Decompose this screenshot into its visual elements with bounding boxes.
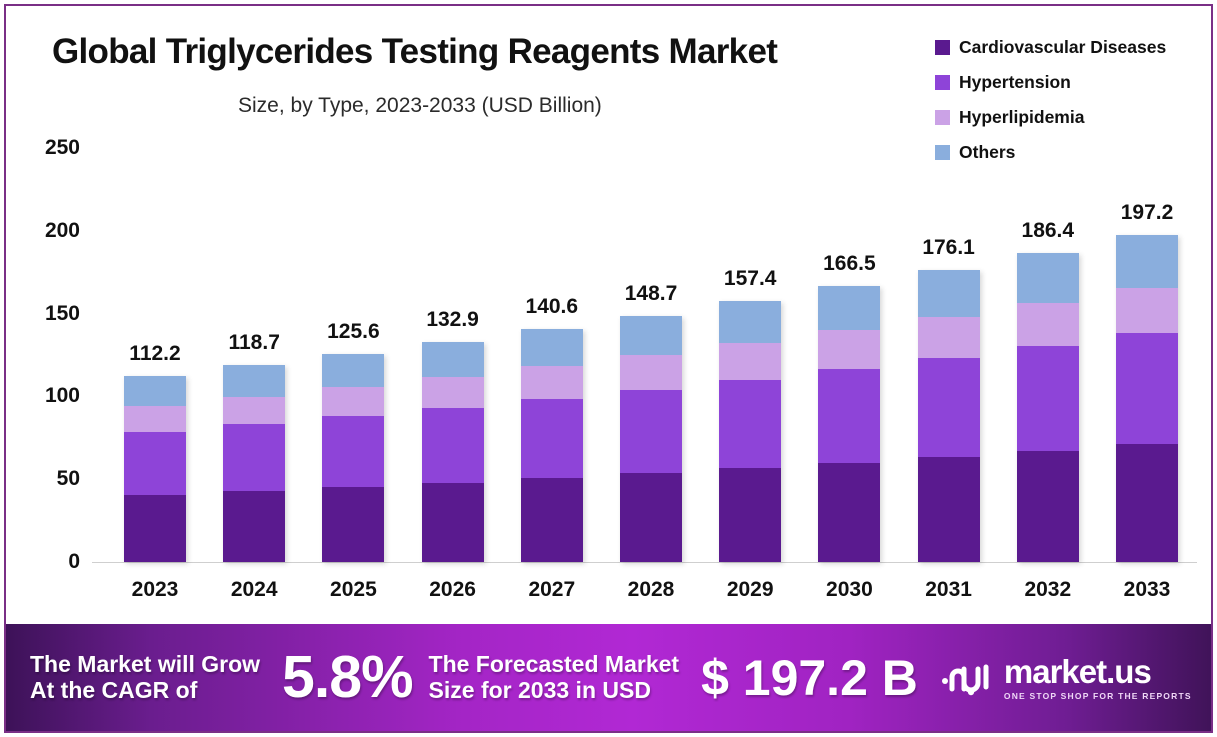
x-axis-tick-label: 2023 xyxy=(112,578,199,602)
bar-segment[interactable] xyxy=(620,355,682,389)
stacked-bar[interactable] xyxy=(322,354,384,562)
bar-segment[interactable] xyxy=(422,408,484,483)
plot-region: 050100150200250112.22023118.72024125.620… xyxy=(6,6,1211,618)
x-axis-tick-label: 2025 xyxy=(310,578,397,602)
bar-segment[interactable] xyxy=(322,416,384,487)
stacked-bar[interactable] xyxy=(124,376,186,562)
market-us-logo-icon xyxy=(940,657,998,699)
x-axis-tick-label: 2030 xyxy=(806,578,893,602)
chart-infographic: Global Triglycerides Testing Reagents Ma… xyxy=(0,0,1217,737)
forecast-caption: The Forecasted Market Size for 2033 in U… xyxy=(429,652,680,704)
bar-value-label: 148.7 xyxy=(608,282,695,306)
x-axis-tick-label: 2033 xyxy=(1104,578,1191,602)
y-axis-tick-label: 50 xyxy=(16,467,80,491)
bar-segment[interactable] xyxy=(918,270,980,317)
bar-segment[interactable] xyxy=(918,457,980,562)
stacked-bar[interactable] xyxy=(422,342,484,562)
bar-segment[interactable] xyxy=(818,286,880,330)
bar-value-label: 132.9 xyxy=(409,308,496,332)
bar-segment[interactable] xyxy=(1116,333,1178,444)
logo-tagline: ONE STOP SHOP FOR THE REPORTS xyxy=(1004,691,1192,701)
bar-segment[interactable] xyxy=(422,483,484,562)
bar-segment[interactable] xyxy=(422,377,484,408)
bar-segment[interactable] xyxy=(620,390,682,474)
y-axis-tick-label: 0 xyxy=(16,550,80,574)
bar-value-label: 140.6 xyxy=(508,295,595,319)
cagr-caption-line1: The Market will Grow xyxy=(30,651,260,677)
bar-segment[interactable] xyxy=(1017,346,1079,451)
logo-text-block: market.us ONE STOP SHOP FOR THE REPORTS xyxy=(1004,655,1192,701)
bar-segment[interactable] xyxy=(322,487,384,562)
bar-segment[interactable] xyxy=(521,329,583,366)
bar-segment[interactable] xyxy=(1017,303,1079,346)
bar-segment[interactable] xyxy=(322,354,384,387)
stacked-bar[interactable] xyxy=(223,365,285,562)
bar-value-label: 125.6 xyxy=(310,320,397,344)
bar-segment[interactable] xyxy=(918,358,980,457)
bar-segment[interactable] xyxy=(719,301,781,343)
bar-segment[interactable] xyxy=(719,468,781,562)
bar-value-label: 118.7 xyxy=(211,331,298,355)
bar-segment[interactable] xyxy=(620,473,682,562)
logo-wordmark: market.us xyxy=(1004,655,1192,688)
bar-segment[interactable] xyxy=(918,317,980,358)
bar-segment[interactable] xyxy=(1116,288,1178,334)
bar-segment[interactable] xyxy=(223,491,285,562)
y-axis-tick-label: 100 xyxy=(16,384,80,408)
bar-segment[interactable] xyxy=(818,330,880,369)
cagr-caption-line2: At the CAGR of xyxy=(30,677,197,703)
bar-segment[interactable] xyxy=(322,387,384,416)
bar-segment[interactable] xyxy=(818,463,880,562)
stacked-bar[interactable] xyxy=(719,301,781,562)
y-axis-tick-label: 250 xyxy=(16,136,80,160)
footer-banner: The Market will Grow At the CAGR of 5.8%… xyxy=(6,624,1211,731)
cagr-caption: The Market will Grow At the CAGR of xyxy=(30,652,260,704)
bar-segment[interactable] xyxy=(521,366,583,399)
y-axis-tick-label: 200 xyxy=(16,219,80,243)
x-axis-tick-label: 2024 xyxy=(211,578,298,602)
x-axis-tick-label: 2027 xyxy=(508,578,595,602)
stacked-bar[interactable] xyxy=(818,286,880,562)
bar-segment[interactable] xyxy=(124,376,186,406)
bar-segment[interactable] xyxy=(422,342,484,377)
bar-segment[interactable] xyxy=(719,343,781,379)
stacked-bar[interactable] xyxy=(1116,235,1178,562)
stacked-bar[interactable] xyxy=(918,270,980,562)
x-axis-tick-label: 2032 xyxy=(1004,578,1091,602)
bar-segment[interactable] xyxy=(521,399,583,478)
bar-segment[interactable] xyxy=(1017,451,1079,562)
stacked-bar[interactable] xyxy=(620,316,682,562)
bar-value-label: 112.2 xyxy=(112,342,199,366)
market-us-logo[interactable]: market.us ONE STOP SHOP FOR THE REPORTS xyxy=(940,655,1192,701)
bar-value-label: 157.4 xyxy=(707,267,794,291)
bar-segment[interactable] xyxy=(124,406,186,432)
bar-segment[interactable] xyxy=(818,369,880,463)
bar-value-label: 186.4 xyxy=(1004,219,1091,243)
bar-segment[interactable] xyxy=(1017,253,1079,302)
bar-segment[interactable] xyxy=(620,316,682,355)
x-axis-line xyxy=(92,562,1197,563)
bar-segment[interactable] xyxy=(124,432,186,495)
forecast-caption-line1: The Forecasted Market xyxy=(429,651,680,677)
x-axis-tick-label: 2028 xyxy=(608,578,695,602)
bar-segment[interactable] xyxy=(223,424,285,491)
cagr-value: 5.8% xyxy=(282,644,412,710)
bar-segment[interactable] xyxy=(719,380,781,469)
bar-segment[interactable] xyxy=(521,478,583,562)
chart-area: Global Triglycerides Testing Reagents Ma… xyxy=(6,6,1211,618)
bar-value-label: 166.5 xyxy=(806,252,893,276)
x-axis-tick-label: 2031 xyxy=(905,578,992,602)
bar-segment[interactable] xyxy=(223,397,285,424)
bar-value-label: 197.2 xyxy=(1104,201,1191,225)
x-axis-tick-label: 2026 xyxy=(409,578,496,602)
bar-segment[interactable] xyxy=(1116,444,1178,562)
forecast-caption-line2: Size for 2033 in USD xyxy=(429,677,651,703)
bar-segment[interactable] xyxy=(124,495,186,562)
bar-segment[interactable] xyxy=(223,365,285,396)
forecast-value: $ 197.2 B xyxy=(701,650,918,706)
stacked-bar[interactable] xyxy=(1017,253,1079,562)
stacked-bar[interactable] xyxy=(521,329,583,562)
x-axis-tick-label: 2029 xyxy=(707,578,794,602)
bar-segment[interactable] xyxy=(1116,235,1178,287)
y-axis-tick-label: 150 xyxy=(16,302,80,326)
bar-value-label: 176.1 xyxy=(905,236,992,260)
